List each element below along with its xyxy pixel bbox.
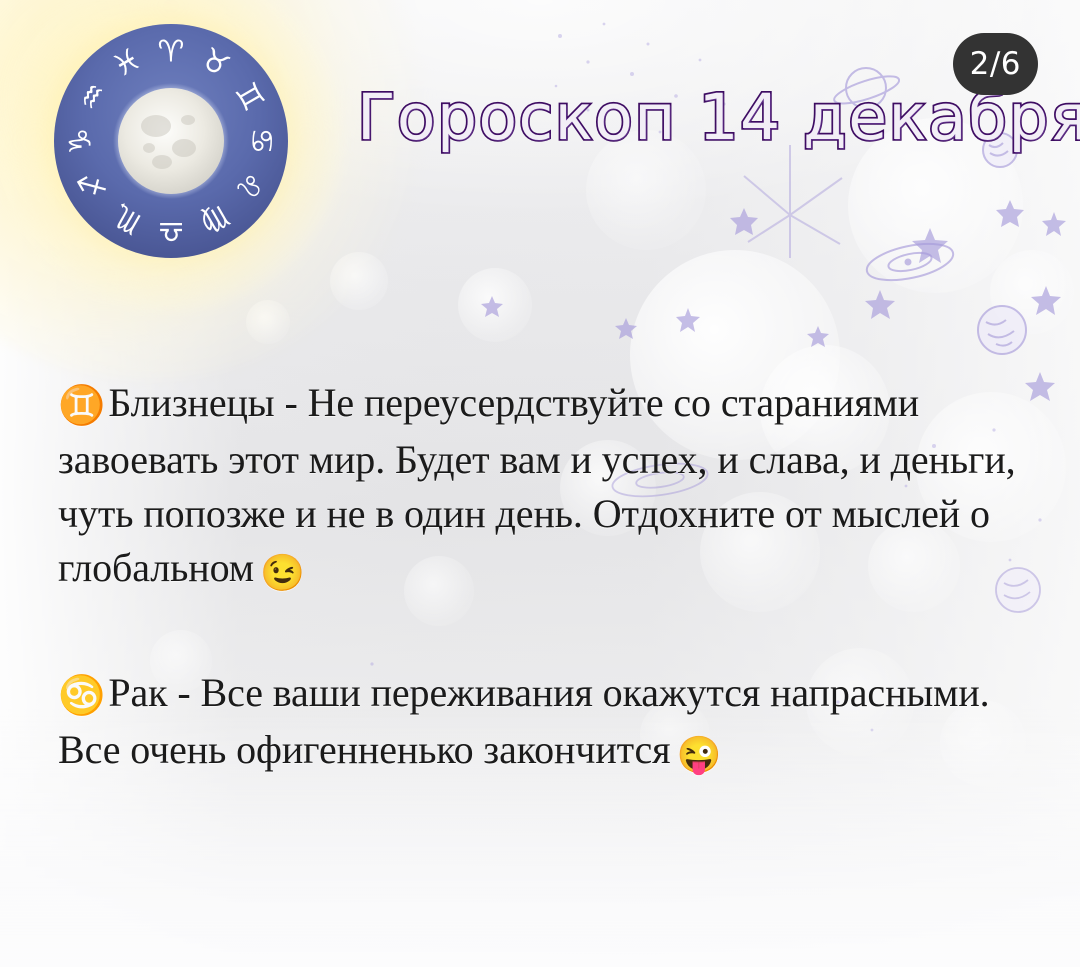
separator: - — [275, 380, 308, 425]
winking-face-emoji: 😉 — [260, 553, 305, 593]
horoscope-entry-gemini: ♊Близнецы - Не переусердствуйте со стара… — [58, 376, 1018, 598]
sign-name: Близнецы — [108, 380, 274, 425]
horoscope-card: ♈ ♉ ♊ ♋ ♌ ♍ ♎ ♏ ♐ ♑ ♒ ♓ Гороскоп 14 дека… — [0, 0, 1080, 967]
cancer-zodiac-icon: ♋ — [58, 675, 105, 717]
page-title: Гороскоп 14 декабря — [357, 86, 1080, 150]
winking-face-with-tongue-emoji: 😜 — [676, 735, 721, 775]
gemini-zodiac-icon: ♊ — [58, 385, 105, 427]
page-indicator-badge: 2/6 — [953, 33, 1038, 95]
svg-text:♈: ♈ — [158, 35, 185, 70]
svg-text:♎: ♎ — [158, 214, 185, 249]
zodiac-wheel-logo: ♈ ♉ ♊ ♋ ♌ ♍ ♎ ♏ ♐ ♑ ♒ ♓ — [52, 22, 290, 260]
separator: - — [167, 670, 200, 715]
sign-name: Рак — [108, 670, 167, 715]
svg-text:♋: ♋ — [244, 128, 279, 155]
zodiac-wheel-graphic: ♈ ♉ ♊ ♋ ♌ ♍ ♎ ♏ ♐ ♑ ♒ ♓ — [52, 22, 290, 260]
horoscope-content: ♊Близнецы - Не переусердствуйте со стара… — [58, 336, 1018, 820]
horoscope-paragraph: ♊Близнецы - Не переусердствуйте со стара… — [58, 376, 1018, 598]
svg-text:♑: ♑ — [64, 128, 99, 155]
horoscope-entry-cancer: ♋Рак - Все ваши переживания окажутся нап… — [58, 666, 1018, 780]
horoscope-paragraph: ♋Рак - Все ваши переживания окажутся нап… — [58, 666, 1018, 780]
